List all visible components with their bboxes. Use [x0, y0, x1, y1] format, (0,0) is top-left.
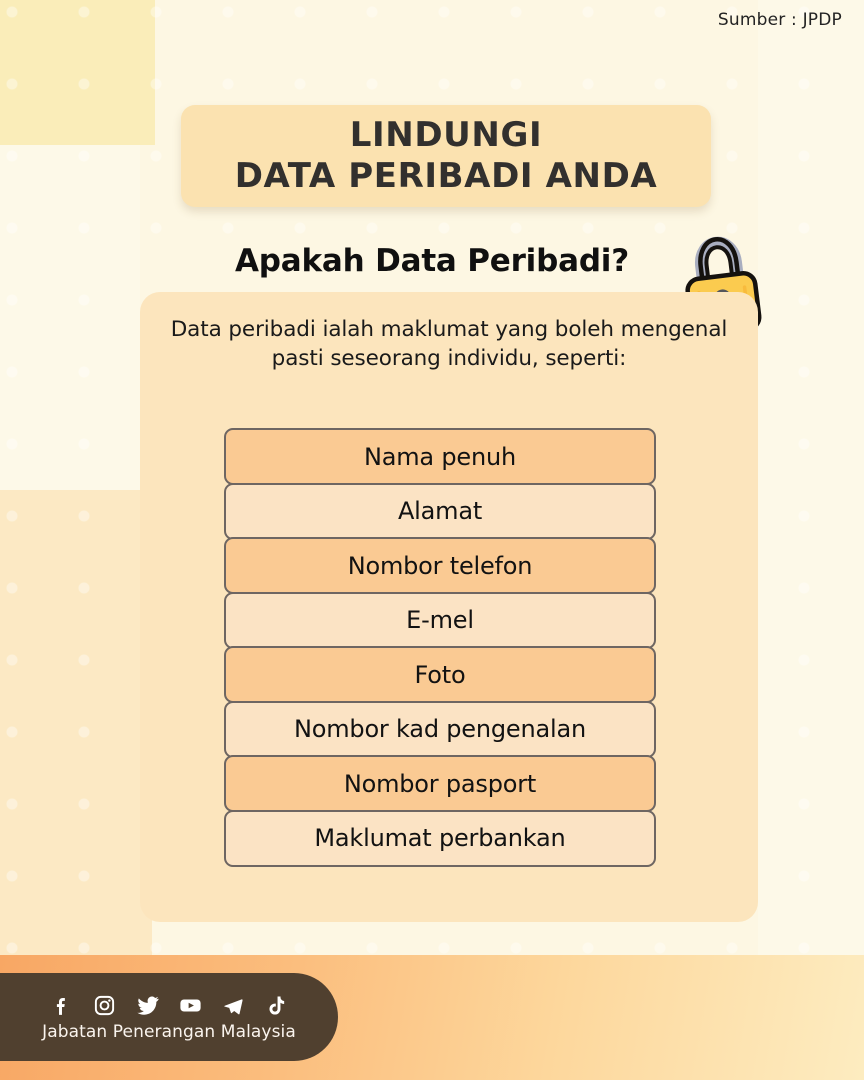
instagram-icon[interactable] [92, 992, 118, 1018]
personal-data-list: Nama penuh Alamat Nombor telefon E-mel F… [224, 428, 656, 867]
list-item: Nombor pasport [224, 755, 656, 812]
footer-social-pill: Jabatan Penerangan Malaysia [0, 973, 338, 1061]
list-item: E-mel [224, 592, 656, 649]
title-banner: LINDUNGI DATA PERIBADI ANDA [181, 105, 711, 207]
list-item: Foto [224, 646, 656, 703]
title-line-2: DATA PERIBADI ANDA [235, 157, 658, 196]
facebook-icon[interactable] [49, 992, 75, 1018]
source-credit: Sumber : JPDP [718, 10, 842, 30]
card-intro-text: Data peribadi ialah maklumat yang boleh … [170, 316, 728, 373]
title-line-1: LINDUNGI [350, 116, 542, 155]
social-icon-row [49, 992, 290, 1018]
list-item: Nombor kad pengenalan [224, 701, 656, 758]
footer-band: Jabatan Penerangan Malaysia [0, 955, 864, 1080]
list-item: Alamat [224, 483, 656, 540]
youtube-icon[interactable] [178, 992, 204, 1018]
footer-organization-name: Jabatan Penerangan Malaysia [42, 1022, 296, 1042]
list-item: Nombor telefon [224, 537, 656, 594]
list-item: Maklumat perbankan [224, 810, 656, 867]
tiktok-icon[interactable] [264, 992, 290, 1018]
telegram-icon[interactable] [221, 992, 247, 1018]
twitter-icon[interactable] [135, 992, 161, 1018]
content-card: Data peribadi ialah maklumat yang boleh … [140, 292, 758, 922]
list-item: Nama penuh [224, 428, 656, 485]
